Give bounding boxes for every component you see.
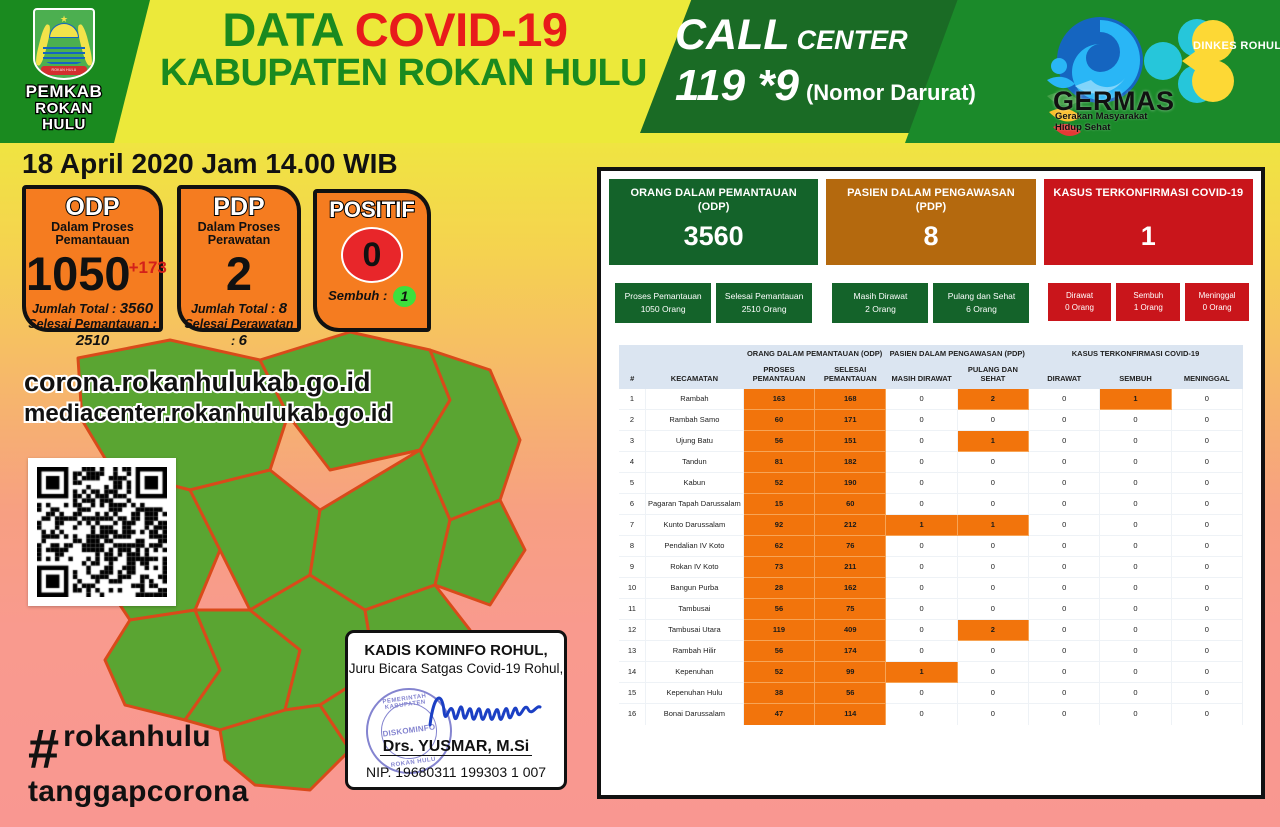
summary-card-odp-title: ORANG DALAM PEMANTAUAN (ODP) <box>609 187 818 215</box>
chip-selesai-pemantauan-label: Selesai Pemantauan <box>718 290 810 303</box>
stat-box-pdp-done-row: Selesai Perawatan : 6 <box>181 317 297 349</box>
row-konf-dirawat: 0 <box>1029 536 1100 557</box>
col-header-pdp-dirawat: MASIH DIRAWAT <box>886 362 957 389</box>
hashtag-line1: rokanhulu <box>28 722 249 752</box>
crest-ribbon: ROKAN HULU <box>41 66 87 75</box>
germas-subtitle: Gerakan Masyarakat Hidup Sehat <box>1055 112 1147 134</box>
row-konf-dirawat: 0 <box>1029 683 1100 704</box>
row-konf-meninggal: 0 <box>1171 410 1242 431</box>
row-no: 11 <box>619 599 645 620</box>
table-row: 6Pagaran Tapah Darussalam156000000 <box>619 494 1243 515</box>
group-header-konfirmasi: KASUS TERKONFIRMASI COVID-19 <box>1029 345 1243 362</box>
row-odp-proses: 73 <box>743 557 814 578</box>
row-kecamatan: Tambusai Utara <box>645 620 743 641</box>
hashtag-symbol: # <box>28 722 59 777</box>
call-center-row2: 119 *9(Nomor Darurat) <box>675 64 976 108</box>
signature-nip: NIP. 19680311 199303 1 007 <box>348 764 564 780</box>
dashboard-panel: ORANG DALAM PEMANTAUAN (ODP) 3560 Proses… <box>597 167 1265 799</box>
row-kecamatan: Kunto Darussalam <box>645 515 743 536</box>
chip-selesai-pemantauan: Selesai Pemantauan 2510 Orang <box>716 283 812 323</box>
row-odp-proses: 92 <box>743 515 814 536</box>
row-kecamatan: Pendalian IV Koto <box>645 536 743 557</box>
row-no: 6 <box>619 494 645 515</box>
row-odp-selesai: 168 <box>815 389 886 410</box>
row-pdp-pulang: 0 <box>957 662 1028 683</box>
col-header-odp-proses: PROSES PEMANTAUAN <box>743 362 814 389</box>
stat-box-odp-delta: +173 <box>129 258 167 277</box>
stat-box-odp-total-value: 3560 <box>120 300 153 317</box>
row-konf-sembuh: 0 <box>1100 704 1171 725</box>
row-konf-dirawat: 0 <box>1029 431 1100 452</box>
summary-card-pdp-title: PASIEN DALAM PENGAWASAN (PDP) <box>826 187 1035 215</box>
row-pdp-pulang: 0 <box>957 704 1028 725</box>
row-no: 14 <box>619 662 645 683</box>
row-pdp-pulang: 0 <box>957 494 1028 515</box>
col-header-konf-meninggal: MENINGGAL <box>1171 362 1242 389</box>
row-odp-selesai: 151 <box>815 431 886 452</box>
row-odp-proses: 62 <box>743 536 814 557</box>
row-konf-meninggal: 0 <box>1171 662 1242 683</box>
row-no: 9 <box>619 557 645 578</box>
row-konf-meninggal: 0 <box>1171 641 1242 662</box>
stat-box-pdp-done-value: 6 <box>239 332 247 349</box>
table-row: 13Rambah Hilir5617400000 <box>619 641 1243 662</box>
kecamatan-table: ORANG DALAM PEMANTAUAN (ODP) PASIEN DALA… <box>619 345 1243 725</box>
group-header-odp: ORANG DALAM PEMANTAUAN (ODP) <box>743 345 886 362</box>
row-no: 1 <box>619 389 645 410</box>
row-pdp-pulang: 1 <box>957 431 1028 452</box>
page-header: ★ ROKAN HULU PEMKAB ROKAN HULU DATA COVI… <box>0 0 1280 143</box>
row-konf-sembuh: 0 <box>1100 599 1171 620</box>
row-odp-selesai: 75 <box>815 599 886 620</box>
summary-card-pdp: PASIEN DALAM PENGAWASAN (PDP) 8 Masih Di… <box>826 179 1035 331</box>
pemkab-label-line1: PEMKAB <box>14 83 114 101</box>
summary-card-konfirmasi-chips: Dirawat 0 Orang Sembuh 1 Orang Meninggal… <box>1044 265 1253 329</box>
chip-sembuh-value: 1 Orang <box>1118 302 1178 314</box>
row-pdp-pulang: 0 <box>957 557 1028 578</box>
row-no: 7 <box>619 515 645 536</box>
row-odp-proses: 81 <box>743 452 814 473</box>
row-konf-meninggal: 0 <box>1171 599 1242 620</box>
call-number: 119 *9 <box>675 61 799 110</box>
summary-card-pdp-chips: Masih Dirawat 2 Orang Pulang dan Sehat 6… <box>826 265 1035 331</box>
row-kecamatan: Kabun <box>645 473 743 494</box>
hashtag-line2: tanggapcorona <box>28 753 249 807</box>
row-no: 4 <box>619 452 645 473</box>
row-odp-selesai: 162 <box>815 578 886 599</box>
row-pdp-dirawat: 0 <box>886 557 957 578</box>
row-pdp-dirawat: 1 <box>886 662 957 683</box>
row-konf-meninggal: 0 <box>1171 536 1242 557</box>
col-header-odp-selesai: SELESAI PEMANTAUAN <box>815 362 886 389</box>
row-pdp-pulang: 0 <box>957 599 1028 620</box>
row-odp-selesai: 212 <box>815 515 886 536</box>
row-pdp-dirawat: 0 <box>886 536 957 557</box>
row-odp-proses: 163 <box>743 389 814 410</box>
row-odp-selesai: 171 <box>815 410 886 431</box>
table-row: 12Tambusai Utara11940902000 <box>619 620 1243 641</box>
url-corona[interactable]: corona.rokanhulukab.go.id <box>24 366 392 399</box>
row-pdp-pulang: 0 <box>957 473 1028 494</box>
table-row: 8Pendalian IV Koto627600000 <box>619 536 1243 557</box>
row-konf-meninggal: 0 <box>1171 578 1242 599</box>
row-odp-selesai: 114 <box>815 704 886 725</box>
row-konf-dirawat: 0 <box>1029 599 1100 620</box>
call-word: CALL <box>675 11 790 59</box>
summary-card-odp: ORANG DALAM PEMANTAUAN (ODP) 3560 Proses… <box>609 179 818 331</box>
row-konf-sembuh: 0 <box>1100 515 1171 536</box>
chip-masih-dirawat-value: 2 Orang <box>834 303 926 316</box>
row-pdp-pulang: 0 <box>957 683 1028 704</box>
row-odp-selesai: 60 <box>815 494 886 515</box>
row-odp-proses: 119 <box>743 620 814 641</box>
table-row: 2Rambah Samo6017100000 <box>619 410 1243 431</box>
table-row: 1Rambah16316802010 <box>619 389 1243 410</box>
table-row: 16Bonai Darussalam4711400000 <box>619 704 1243 725</box>
stat-box-odp-title: ODP <box>26 194 159 220</box>
table-row: 10Bangun Purba2816200000 <box>619 578 1243 599</box>
stat-box-pdp-total-value: 8 <box>279 300 287 317</box>
row-pdp-dirawat: 0 <box>886 410 957 431</box>
row-konf-sembuh: 0 <box>1100 536 1171 557</box>
report-date: 18 April 2020 Jam 14.00 WIB <box>22 148 398 180</box>
row-pdp-dirawat: 0 <box>886 389 957 410</box>
row-pdp-pulang: 0 <box>957 641 1028 662</box>
row-konf-sembuh: 0 <box>1100 641 1171 662</box>
row-konf-dirawat: 0 <box>1029 389 1100 410</box>
row-kecamatan: Kepenuhan <box>645 662 743 683</box>
row-no: 5 <box>619 473 645 494</box>
summary-card-konfirmasi: KASUS TERKONFIRMASI COVID-19 1 Dirawat 0… <box>1044 179 1253 331</box>
kecamatan-table-wrapper: ORANG DALAM PEMANTAUAN (ODP) PASIEN DALA… <box>609 345 1253 725</box>
row-pdp-dirawat: 0 <box>886 494 957 515</box>
summary-card-odp-value: 3560 <box>609 221 818 252</box>
germas-logo: GERMAS Gerakan Masyarakat Hidup Sehat DI… <box>1045 8 1275 140</box>
row-odp-proses: 56 <box>743 431 814 452</box>
col-header-konf-sembuh: SEMBUH <box>1100 362 1171 389</box>
row-konf-sembuh: 0 <box>1100 662 1171 683</box>
stat-box-odp-done-label: Selesai Pemantauan : <box>28 317 157 331</box>
row-odp-selesai: 211 <box>815 557 886 578</box>
stat-box-pdp: PDP Dalam Proses Perawatan 2 Jumlah Tota… <box>177 185 301 332</box>
col-header-pdp-pulang: PULANG DAN SEHAT <box>957 362 1028 389</box>
row-konf-dirawat: 0 <box>1029 515 1100 536</box>
row-konf-dirawat: 0 <box>1029 494 1100 515</box>
stat-box-odp-total-row: Jumlah Total : 3560 <box>26 300 159 318</box>
center-word: CENTER <box>797 25 908 55</box>
row-odp-proses: 28 <box>743 578 814 599</box>
row-odp-proses: 56 <box>743 641 814 662</box>
row-no: 13 <box>619 641 645 662</box>
pemkab-label-line2: ROKAN HULU <box>14 101 114 133</box>
qr-code[interactable] <box>28 458 176 606</box>
row-konf-sembuh: 0 <box>1100 557 1171 578</box>
row-no: 12 <box>619 620 645 641</box>
table-row: 14Kepenuhan529910000 <box>619 662 1243 683</box>
row-konf-dirawat: 0 <box>1029 641 1100 662</box>
stat-box-odp-subtitle: Dalam Proses Pemantauan <box>26 221 159 247</box>
stat-box-pdp-value: 2 <box>181 250 297 297</box>
chip-sembuh-label: Sembuh <box>1118 290 1178 302</box>
row-konf-dirawat: 0 <box>1029 557 1100 578</box>
table-group-header-row: ORANG DALAM PEMANTAUAN (ODP) PASIEN DALA… <box>619 345 1243 362</box>
stat-box-odp-footer: Jumlah Total : 3560 Selesai Pemantauan :… <box>26 300 159 350</box>
chip-proses-pemantauan: Proses Pemantauan 1050 Orang <box>615 283 711 323</box>
stat-box-positif-title: POSITIF <box>317 198 427 221</box>
row-pdp-dirawat: 0 <box>886 599 957 620</box>
summary-card-odp-head: ORANG DALAM PEMANTAUAN (ODP) 3560 <box>609 179 818 265</box>
stat-box-odp: ODP Dalam Proses Pemantauan 1050+173 Jum… <box>22 185 163 332</box>
stat-box-positif-sembuh: Sembuh : 1 <box>317 286 427 307</box>
row-kecamatan: Tambusai <box>645 599 743 620</box>
stat-box-odp-number: 1050 <box>26 247 131 300</box>
stat-box-odp-done-value: 2510 <box>76 332 109 349</box>
stat-box-pdp-total-label: Jumlah Total : <box>191 302 279 316</box>
row-konf-sembuh: 0 <box>1100 578 1171 599</box>
row-konf-meninggal: 0 <box>1171 431 1242 452</box>
row-odp-proses: 38 <box>743 683 814 704</box>
handwritten-signature-icon <box>426 685 546 735</box>
row-odp-proses: 15 <box>743 494 814 515</box>
header-title-line2: KABUPATEN ROKAN HULU <box>160 54 630 94</box>
row-konf-meninggal: 0 <box>1171 557 1242 578</box>
row-kecamatan: Rambah Hilir <box>645 641 743 662</box>
crest-water-icon <box>43 47 85 65</box>
row-konf-sembuh: 0 <box>1100 620 1171 641</box>
chip-dirawat-value: 0 Orang <box>1050 302 1110 314</box>
row-konf-sembuh: 1 <box>1100 389 1171 410</box>
row-odp-proses: 56 <box>743 599 814 620</box>
row-konf-sembuh: 0 <box>1100 683 1171 704</box>
row-kecamatan: Rambah <box>645 389 743 410</box>
summary-card-konfirmasi-head: KASUS TERKONFIRMASI COVID-19 1 <box>1044 179 1253 265</box>
stat-box-positif: POSITIF 0 Sembuh : 1 <box>313 189 431 332</box>
row-konf-meninggal: 0 <box>1171 494 1242 515</box>
pemkab-logo: ★ ROKAN HULU PEMKAB ROKAN HULU <box>14 8 114 132</box>
row-konf-meninggal: 0 <box>1171 473 1242 494</box>
chip-pulang-dan-sehat-label: Pulang dan Sehat <box>935 290 1027 303</box>
row-pdp-dirawat: 0 <box>886 452 957 473</box>
chip-masih-dirawat-label: Masih Dirawat <box>834 290 926 303</box>
summary-cards-row: ORANG DALAM PEMANTAUAN (ODP) 3560 Proses… <box>609 179 1253 331</box>
row-konf-meninggal: 0 <box>1171 515 1242 536</box>
call-number-note: (Nomor Darurat) <box>806 80 976 105</box>
row-kecamatan: Rambah Samo <box>645 410 743 431</box>
chip-dirawat-label: Dirawat <box>1050 290 1110 302</box>
row-pdp-pulang: 0 <box>957 410 1028 431</box>
hashtag-lines: rokanhulu tanggapcorona <box>28 722 249 807</box>
row-odp-proses: 47 <box>743 704 814 725</box>
col-header-kecamatan: KECAMATAN <box>645 362 743 389</box>
row-pdp-pulang: 2 <box>957 389 1028 410</box>
row-konf-dirawat: 0 <box>1029 662 1100 683</box>
row-no: 2 <box>619 410 645 431</box>
row-konf-meninggal: 0 <box>1171 683 1242 704</box>
row-odp-selesai: 76 <box>815 536 886 557</box>
table-row: 11Tambusai567500000 <box>619 599 1243 620</box>
row-konf-sembuh: 0 <box>1100 452 1171 473</box>
row-odp-selesai: 182 <box>815 452 886 473</box>
stat-box-pdp-footer: Jumlah Total : 8 Selesai Perawatan : 6 <box>181 300 297 350</box>
germas-subtitle-line2: Hidup Sehat <box>1055 123 1147 134</box>
row-odp-selesai: 56 <box>815 683 886 704</box>
summary-card-pdp-head: PASIEN DALAM PENGAWASAN (PDP) 8 <box>826 179 1035 265</box>
row-konf-dirawat: 0 <box>1029 620 1100 641</box>
chip-meninggal: Meninggal 0 Orang <box>1185 283 1249 321</box>
chip-proses-pemantauan-label: Proses Pemantauan <box>617 290 709 303</box>
stat-box-pdp-title: PDP <box>181 194 297 220</box>
row-no: 3 <box>619 431 645 452</box>
row-odp-selesai: 99 <box>815 662 886 683</box>
row-no: 15 <box>619 683 645 704</box>
row-kecamatan: Pagaran Tapah Darussalam <box>645 494 743 515</box>
table-row: 7Kunto Darussalam9221211000 <box>619 515 1243 536</box>
row-pdp-pulang: 0 <box>957 536 1028 557</box>
table-row: 4Tandun8118200000 <box>619 452 1243 473</box>
row-kecamatan: Bonai Darussalam <box>645 704 743 725</box>
col-header-konf-dirawat: DIRAWAT <box>1029 362 1100 389</box>
header-title-data-word: DATA <box>222 3 354 56</box>
stat-box-pdp-total-row: Jumlah Total : 8 <box>181 300 297 318</box>
summary-card-konfirmasi-title: KASUS TERKONFIRMASI COVID-19 <box>1047 187 1249 201</box>
row-odp-selesai: 190 <box>815 473 886 494</box>
row-pdp-dirawat: 0 <box>886 431 957 452</box>
row-kecamatan: Bangun Purba <box>645 578 743 599</box>
rokan-hulu-crest-icon: ★ ROKAN HULU <box>33 8 95 80</box>
url-mediacenter[interactable]: mediacenter.rokanhulukab.go.id <box>24 399 392 428</box>
table-row: 3Ujung Batu5615101000 <box>619 431 1243 452</box>
col-header-no: # <box>619 362 645 389</box>
kecamatan-table-body: 1Rambah163168020102Rambah Samo6017100000… <box>619 389 1243 725</box>
row-pdp-dirawat: 0 <box>886 641 957 662</box>
chip-meninggal-value: 0 Orang <box>1187 302 1247 314</box>
chip-pulang-dan-sehat-value: 6 Orang <box>935 303 1027 316</box>
group-header-blank <box>619 345 743 362</box>
row-kecamatan: Tandun <box>645 452 743 473</box>
row-pdp-dirawat: 0 <box>886 620 957 641</box>
row-pdp-dirawat: 0 <box>886 473 957 494</box>
row-pdp-pulang: 1 <box>957 515 1028 536</box>
row-konf-dirawat: 0 <box>1029 410 1100 431</box>
row-konf-meninggal: 0 <box>1171 704 1242 725</box>
stat-box-odp-total-label: Jumlah Total : <box>32 302 120 316</box>
signature-card: KADIS KOMINFO ROHUL, Juru Bicara Satgas … <box>345 630 567 790</box>
call-center-row1: CALLCENTER <box>675 14 976 57</box>
row-konf-sembuh: 0 <box>1100 494 1171 515</box>
table-row: 15Kepenuhan Hulu385600000 <box>619 683 1243 704</box>
chip-dirawat: Dirawat 0 Orang <box>1048 283 1112 321</box>
row-konf-sembuh: 0 <box>1100 473 1171 494</box>
row-odp-proses: 60 <box>743 410 814 431</box>
row-konf-dirawat: 0 <box>1029 704 1100 725</box>
summary-card-pdp-value: 8 <box>826 221 1035 252</box>
chip-meninggal-label: Meninggal <box>1187 290 1247 302</box>
row-konf-dirawat: 0 <box>1029 473 1100 494</box>
dinkes-rohul-label: DINKES ROHUL <box>1193 40 1280 52</box>
header-title-covid-word: COVID-19 <box>355 3 568 56</box>
row-pdp-pulang: 0 <box>957 578 1028 599</box>
row-odp-proses: 52 <box>743 662 814 683</box>
row-konf-meninggal: 0 <box>1171 452 1242 473</box>
row-konf-dirawat: 0 <box>1029 578 1100 599</box>
row-pdp-pulang: 2 <box>957 620 1028 641</box>
row-no: 10 <box>619 578 645 599</box>
chip-pulang-dan-sehat: Pulang dan Sehat 6 Orang <box>933 283 1029 323</box>
chip-sembuh: Sembuh 1 Orang <box>1116 283 1180 321</box>
stat-box-odp-value: 1050+173 <box>26 250 159 297</box>
header-title-block: DATA COVID-19 KABUPATEN ROKAN HULU <box>160 6 630 94</box>
stat-box-positif-sembuh-label: Sembuh : <box>328 288 391 303</box>
row-kecamatan: Rokan IV Koto <box>645 557 743 578</box>
row-pdp-dirawat: 1 <box>886 515 957 536</box>
row-pdp-dirawat: 0 <box>886 683 957 704</box>
row-no: 16 <box>619 704 645 725</box>
website-urls: corona.rokanhulukab.go.id mediacenter.ro… <box>24 366 392 428</box>
call-center-block: CALLCENTER 119 *9(Nomor Darurat) <box>675 14 976 108</box>
table-row: 9Rokan IV Koto7321100000 <box>619 557 1243 578</box>
row-pdp-pulang: 0 <box>957 452 1028 473</box>
table-row: 5Kabun5219000000 <box>619 473 1243 494</box>
crest-dome-icon <box>49 23 79 38</box>
row-konf-sembuh: 0 <box>1100 431 1171 452</box>
row-konf-dirawat: 0 <box>1029 452 1100 473</box>
chip-masih-dirawat: Masih Dirawat 2 Orang <box>832 283 928 323</box>
stat-box-pdp-subtitle: Dalam Proses Perawatan <box>181 221 297 247</box>
summary-card-konfirmasi-value: 1 <box>1044 221 1253 252</box>
row-odp-proses: 52 <box>743 473 814 494</box>
chip-selesai-pemantauan-value: 2510 Orang <box>718 303 810 316</box>
table-column-header-row: # KECAMATAN PROSES PEMANTAUAN SELESAI PE… <box>619 362 1243 389</box>
row-pdp-dirawat: 0 <box>886 704 957 725</box>
header-title-line1: DATA COVID-19 <box>160 6 630 54</box>
row-odp-selesai: 409 <box>815 620 886 641</box>
stat-box-odp-done-row: Selesai Pemantauan : 2510 <box>26 317 159 349</box>
kecamatan-table-head: ORANG DALAM PEMANTAUAN (ODP) PASIEN DALA… <box>619 345 1243 389</box>
hashtag-block: # rokanhulu tanggapcorona <box>28 722 249 807</box>
row-no: 8 <box>619 536 645 557</box>
signature-role-line2: Juru Bicara Satgas Covid-19 Rohul, <box>348 661 564 676</box>
row-konf-meninggal: 0 <box>1171 389 1242 410</box>
row-pdp-dirawat: 0 <box>886 578 957 599</box>
row-kecamatan: Ujung Batu <box>645 431 743 452</box>
row-odp-selesai: 174 <box>815 641 886 662</box>
group-header-pdp: PASIEN DALAM PENGAWASAN (PDP) <box>886 345 1029 362</box>
stat-box-positif-sembuh-value: 1 <box>393 286 416 307</box>
signature-role-line1: KADIS KOMINFO ROHUL, <box>348 642 564 659</box>
row-kecamatan: Kepenuhan Hulu <box>645 683 743 704</box>
row-konf-meninggal: 0 <box>1171 620 1242 641</box>
stat-box-positif-value: 0 <box>341 227 403 283</box>
signature-name: Drs. YUSMAR, M.Si <box>348 738 564 756</box>
qr-code-canvas[interactable] <box>37 467 167 597</box>
chip-proses-pemantauan-value: 1050 Orang <box>617 303 709 316</box>
row-konf-sembuh: 0 <box>1100 410 1171 431</box>
summary-card-odp-chips: Proses Pemantauan 1050 Orang Selesai Pem… <box>609 265 818 331</box>
